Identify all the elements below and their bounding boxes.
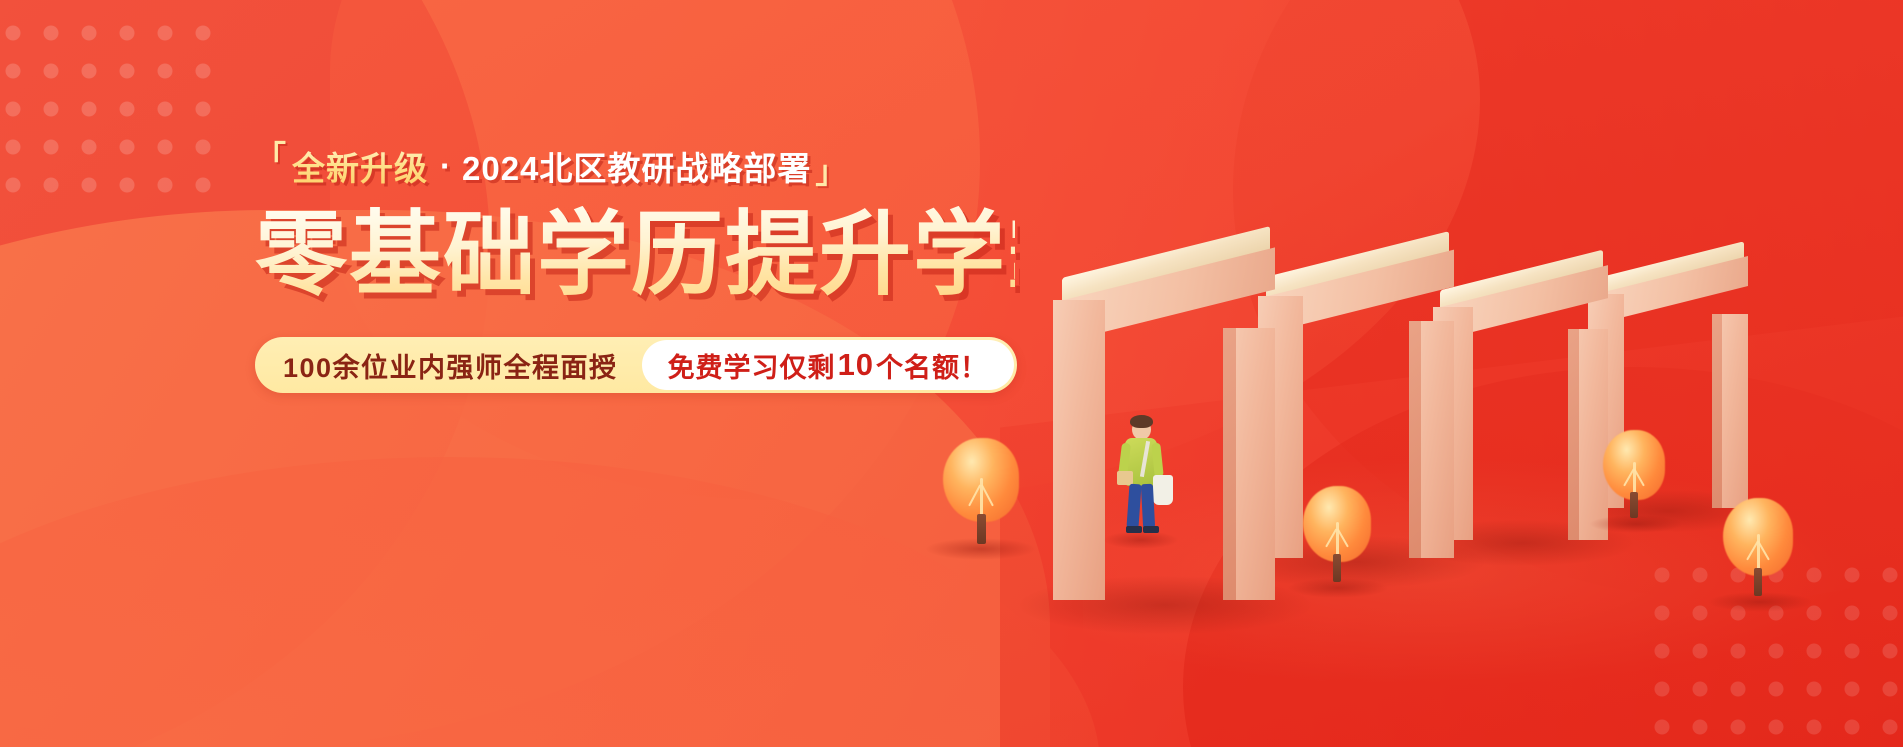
bracket-open-icon: 「 xyxy=(255,142,287,173)
subtitle-rest: 2024北区教研战略部署 xyxy=(462,142,811,190)
badge-suffix: 个名额！ xyxy=(876,346,988,385)
banner-subtitle: 「 全新升级 · 2024北区教研战略部署 」 xyxy=(255,140,1015,192)
book-arch-icon-3 xyxy=(1433,268,1608,540)
autumn-tree-icon-4 xyxy=(1723,498,1797,610)
badge-number: 10 xyxy=(836,347,876,383)
student-walking-icon xyxy=(1111,413,1175,543)
dot-grid-pattern-icon-top-left xyxy=(0,14,224,209)
subtitle-highlight: 全新升级 xyxy=(290,142,430,190)
autumn-tree-icon-1 xyxy=(943,438,1023,558)
status-badge: 免费学习仅剩 10 个名额！ xyxy=(642,340,1014,390)
text-content: 「 全新升级 · 2024北区教研战略部署 」 零基础学历提升学霸班 100余位… xyxy=(255,140,1015,393)
autumn-tree-icon-3 xyxy=(1603,430,1669,532)
autumn-tree-icon-2 xyxy=(1303,486,1375,596)
badge-prefix: 免费学习仅剩 xyxy=(668,346,836,385)
promo-banner: 「 全新升级 · 2024北区教研战略部署 」 零基础学历提升学霸班 100余位… xyxy=(0,0,1903,747)
illustration xyxy=(1033,0,1903,747)
page-title: 零基础学历提升学霸班 xyxy=(255,206,1015,305)
pill-label: 100余位业内强师全程面授 xyxy=(283,337,642,393)
highlight-pill: 100余位业内强师全程面授 免费学习仅剩 10 个名额！ xyxy=(255,337,1017,393)
bracket-close-icon: 」 xyxy=(815,157,847,188)
subtitle-separator-icon: · xyxy=(440,147,452,185)
